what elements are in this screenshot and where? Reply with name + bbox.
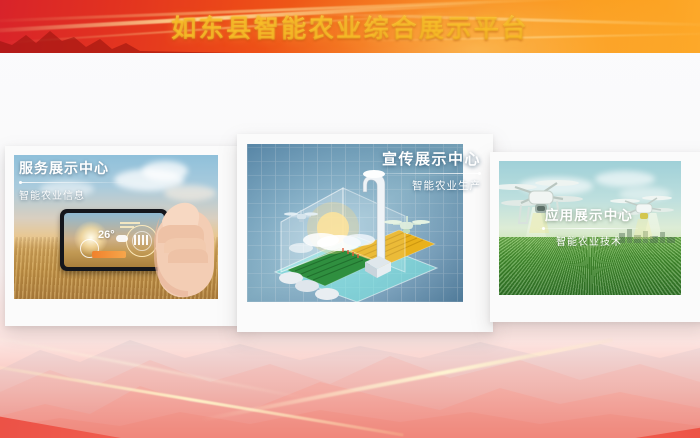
hud-progress-chip (92, 251, 126, 258)
hud-line (120, 222, 140, 224)
divider-dot (478, 172, 481, 175)
weather-cloud-icon (116, 235, 128, 242)
divider-dot (542, 227, 545, 230)
signal-bars-icon (134, 235, 148, 245)
card-application-subtitle: 智能农业技术 (540, 233, 638, 248)
card-promotion-caption: 宣传展示中心 智能农业生产 (365, 148, 481, 193)
card-service-caption: 服务展示中心 智能农业信息 (19, 158, 123, 202)
card-application-caption: 应用展示中心 智能农业技术 (540, 204, 638, 248)
caption-divider (19, 182, 123, 183)
smartphone-device: 26° (60, 209, 168, 271)
page-root: 如东县智能农业综合展示平台 26° (0, 0, 700, 438)
hand-illustration (154, 191, 218, 299)
phone-screen: 26° (64, 213, 164, 267)
card-promotion-subtitle: 智能农业生产 (365, 178, 481, 193)
hud-line (120, 226, 134, 228)
card-application[interactable]: 应用展示中心 智能农业技术 (490, 152, 700, 322)
header-banner: 如东县智能农业综合展示平台 (0, 0, 700, 53)
cloud-icon (142, 161, 188, 181)
card-service-title: 服务展示中心 (19, 158, 123, 178)
page-title: 如东县智能农业综合展示平台 (0, 0, 700, 53)
caption-divider (365, 173, 481, 174)
card-service[interactable]: 26° 服务展示中心 智能农业信息 (5, 146, 245, 326)
card-service-subtitle: 智能农业信息 (19, 187, 123, 202)
card-promotion-title: 宣传展示中心 (365, 148, 481, 169)
caption-divider (540, 228, 638, 229)
card-application-title: 应用展示中心 (540, 204, 638, 224)
temperature-readout: 26° (98, 229, 115, 241)
divider-dot (19, 181, 22, 184)
card-promotion[interactable]: 宣传展示中心 智能农业生产 (237, 134, 493, 332)
